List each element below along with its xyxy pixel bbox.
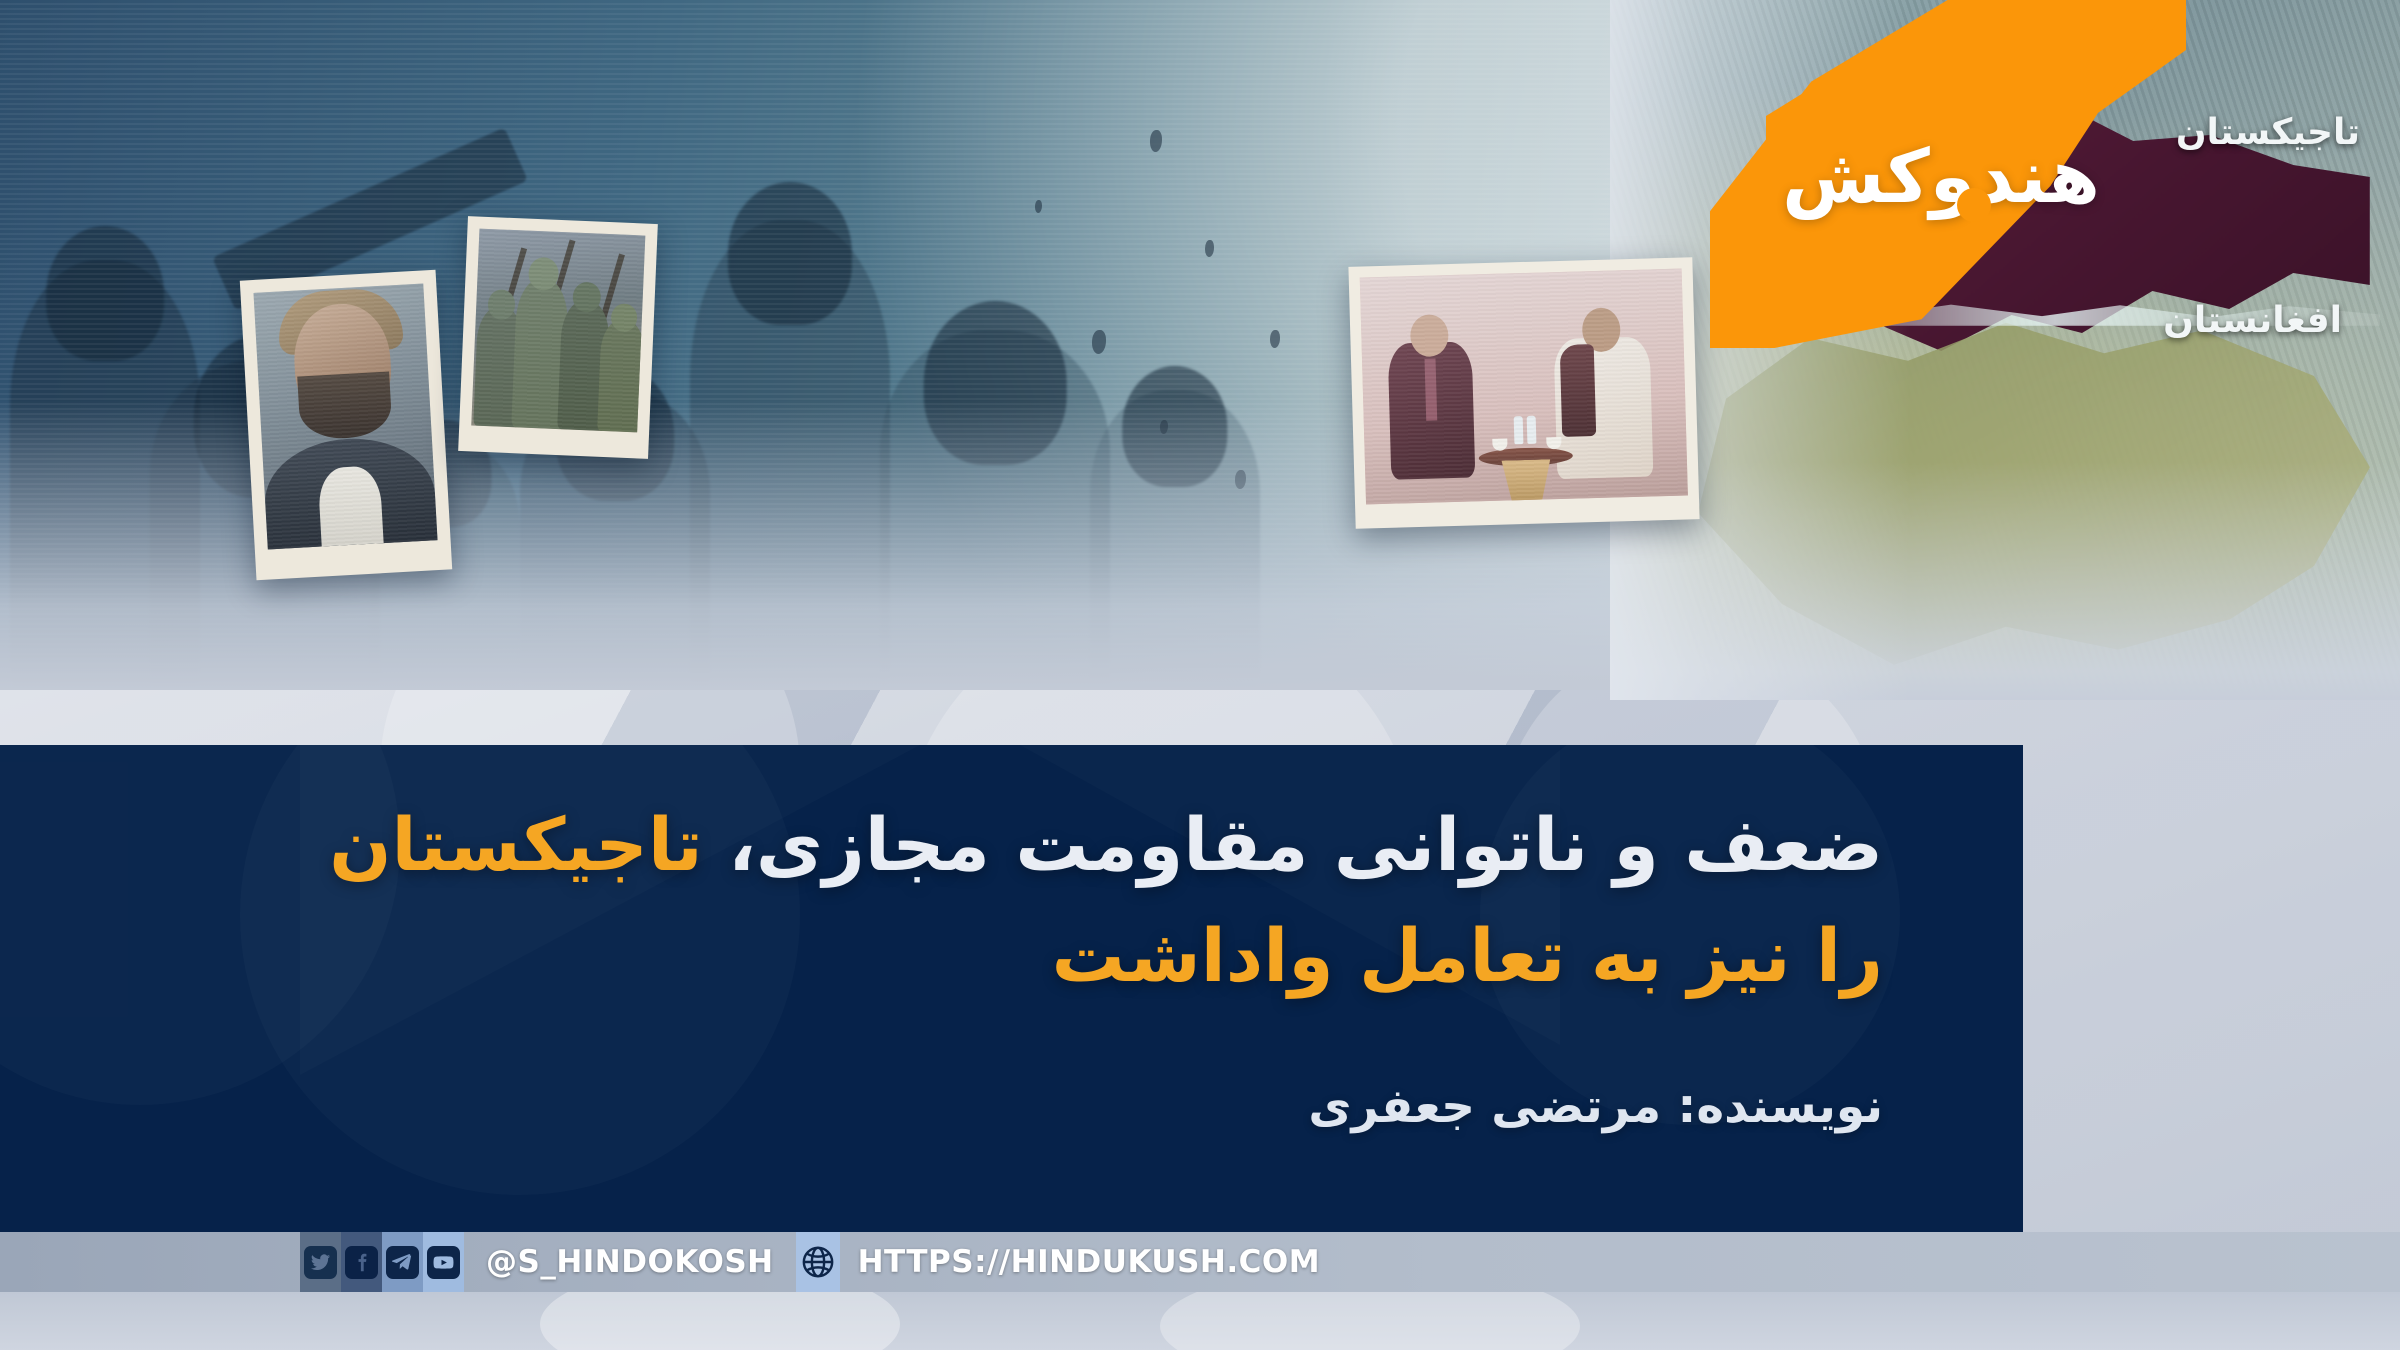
logo-accent-dot — [1957, 188, 1991, 222]
headline-line1-white-b: مقاومت مجازی، — [728, 803, 1308, 888]
meeting-photo — [1360, 269, 1688, 505]
social-link-telegram[interactable] — [382, 1232, 423, 1292]
social-icon-group — [300, 1232, 464, 1292]
headline-line1-orange: تاجیکستان — [329, 803, 702, 888]
water-bottle — [1527, 416, 1537, 444]
fighters-polaroid — [458, 216, 658, 459]
portrait-polaroid — [240, 270, 452, 580]
beard-shape — [297, 372, 392, 441]
social-link-youtube[interactable] — [423, 1232, 464, 1292]
footer-bar: @S_HINDOKOSH HTTPS://HINDUKUSH.COM — [0, 1232, 2400, 1292]
water-bottle — [1514, 416, 1524, 444]
headline-line2: را نیز به تعامل واداشت — [120, 902, 1883, 1013]
author-byline: نویسنده: مرتضی جعفری — [1308, 1079, 1883, 1134]
fighter-shape — [597, 319, 645, 433]
official-in-suit — [1388, 341, 1476, 479]
telegram-icon — [386, 1246, 419, 1279]
poster-stage: تاجیکستان افغانستان — [0, 0, 2400, 1350]
fighters-photo — [471, 229, 645, 433]
portrait-photo — [253, 283, 437, 549]
headline-panel: ضعف و ناتوانی مقاومت مجازی، تاجیکستان را… — [0, 745, 2023, 1232]
globe-icon — [796, 1232, 840, 1292]
headline-line1-white-a: ضعف و ناتوانی — [1334, 803, 1883, 888]
social-link-twitter[interactable] — [300, 1232, 341, 1292]
footer-lower-strip — [0, 1292, 2400, 1350]
social-link-facebook[interactable] — [341, 1232, 382, 1292]
headline-text: ضعف و ناتوانی مقاومت مجازی، تاجیکستان را… — [120, 791, 1883, 1013]
meeting-polaroid — [1348, 257, 1699, 529]
vest-shape — [1560, 344, 1597, 437]
twitter-icon — [304, 1246, 337, 1279]
logo-wordmark[interactable]: هندوکش — [1782, 140, 2100, 214]
social-handle[interactable]: @S_HINDOKOSH — [486, 1244, 774, 1280]
youtube-icon — [427, 1246, 460, 1279]
website-url[interactable]: HTTPS://HINDUKUSH.COM — [858, 1244, 1321, 1280]
facebook-icon — [345, 1246, 378, 1279]
